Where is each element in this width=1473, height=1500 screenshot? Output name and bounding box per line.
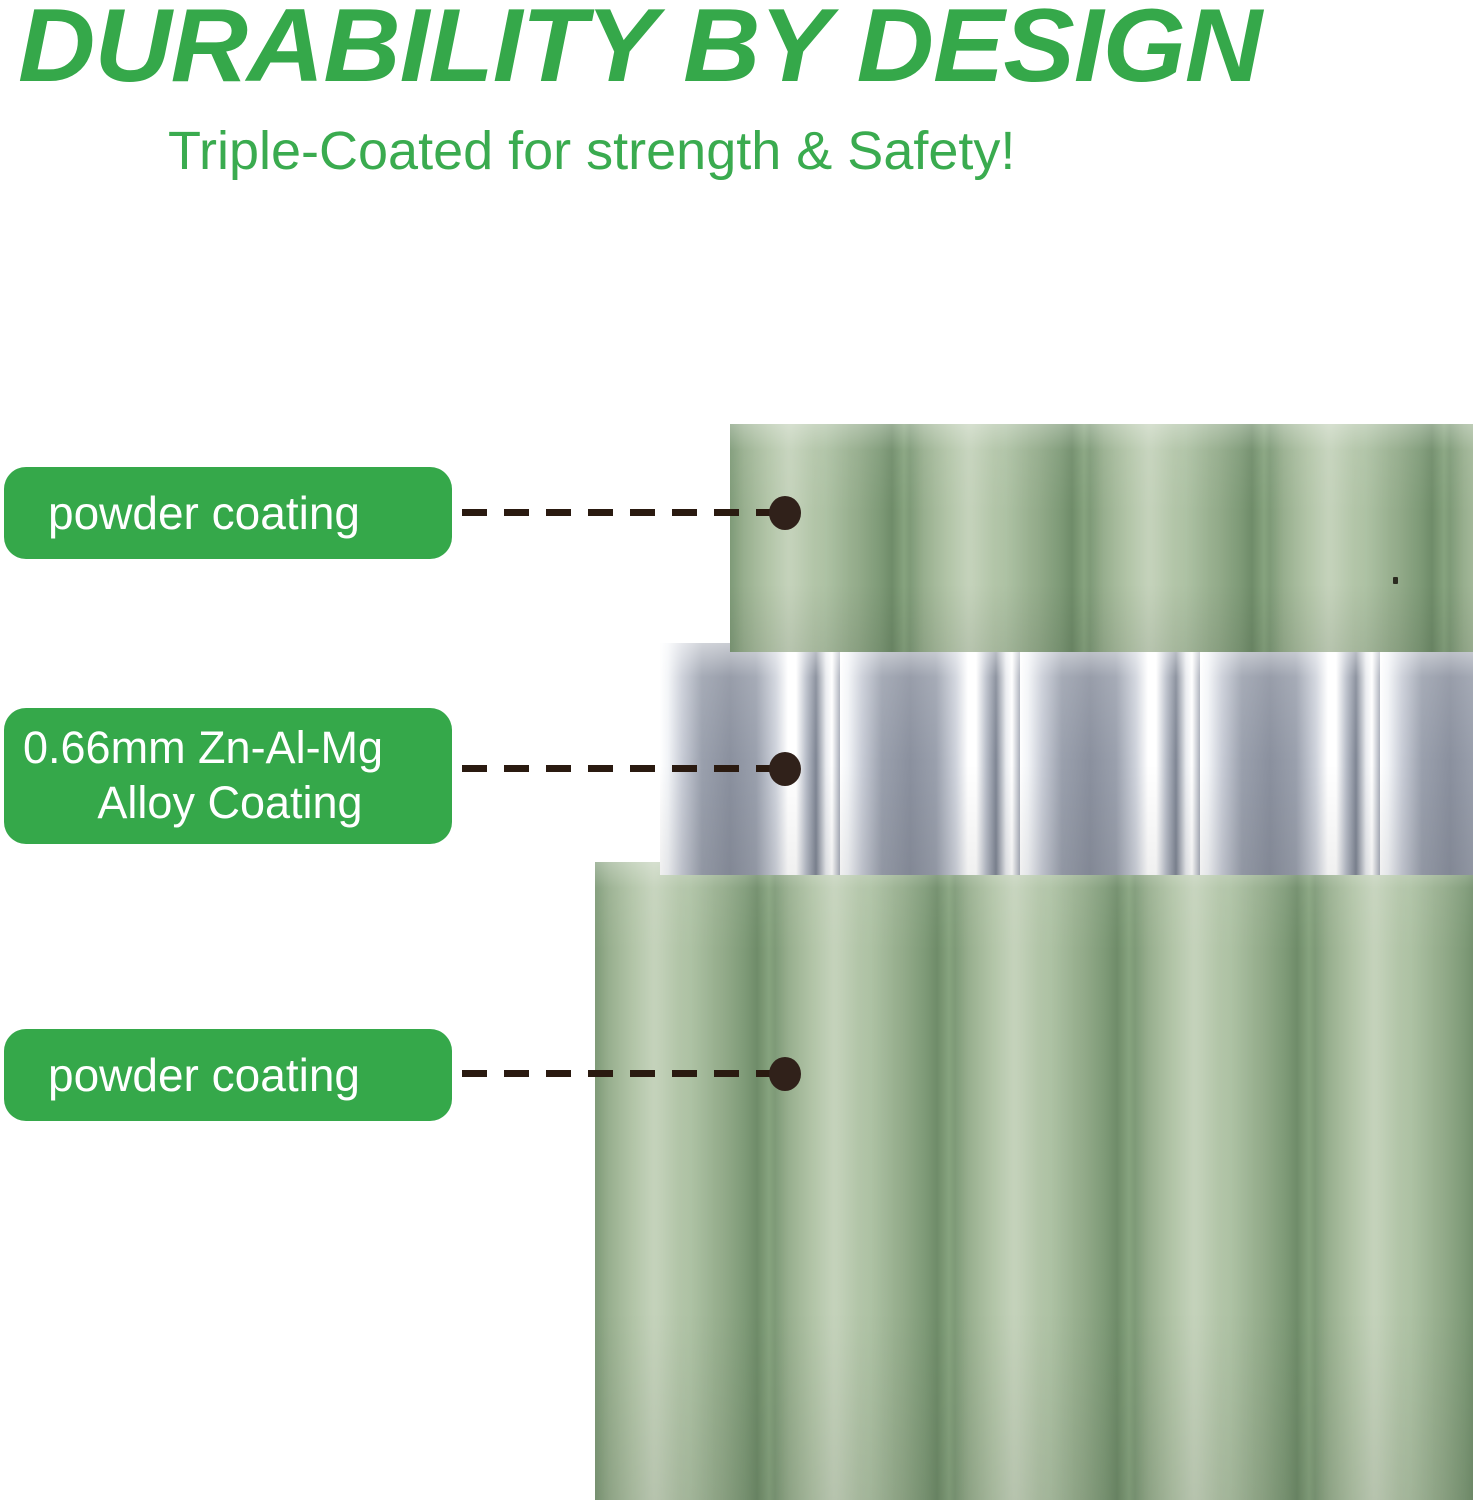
callout-alloy-coating-line-1: 0.66mm Zn-Al-Mg (13, 721, 447, 776)
top-green-shading (730, 424, 1473, 652)
leader-line-bottom-powder-coating (462, 1070, 772, 1077)
page-title: DURABILITY BY DESIGN (18, 0, 1473, 98)
top-green-panel (730, 424, 1473, 652)
page-subtitle: Triple-Coated for strength & Safety! (168, 122, 1015, 181)
callout-alloy-coating[interactable]: 0.66mm Zn-Al-Mg Alloy Coating (4, 708, 452, 844)
surface-speck (1393, 577, 1398, 584)
marker-dot-top-powder-coating (769, 496, 801, 530)
bottom-green-shading (595, 862, 1473, 1500)
callout-bottom-powder-coating[interactable]: powder coating (4, 1029, 452, 1121)
callout-top-powder-coating[interactable]: powder coating (4, 467, 452, 559)
leader-line-alloy-coating (462, 765, 772, 772)
leader-line-top-powder-coating (462, 509, 772, 516)
bottom-green-panel (595, 862, 1473, 1500)
marker-dot-bottom-powder-coating (769, 1057, 801, 1091)
infographic-canvas: DURABILITY BY DESIGN Triple-Coated for s… (0, 0, 1473, 1500)
marker-dot-alloy-coating (769, 752, 801, 786)
callout-alloy-coating-line-2: Alloy Coating (18, 776, 442, 831)
callout-bottom-powder-coating-label: powder coating (48, 1048, 452, 1102)
callout-top-powder-coating-label: powder coating (48, 486, 452, 540)
